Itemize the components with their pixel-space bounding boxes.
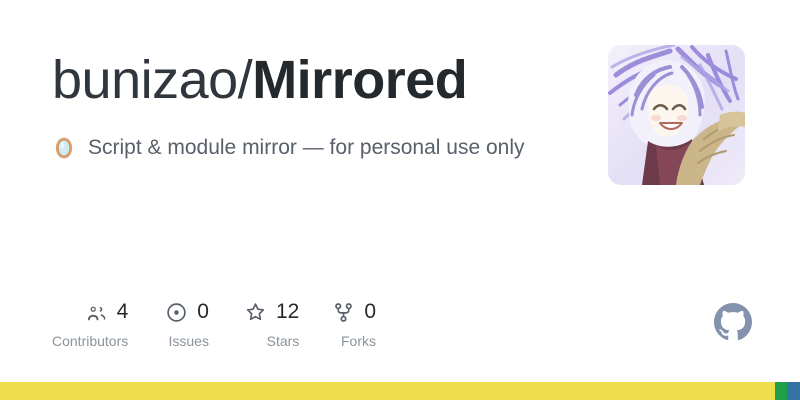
stat-forks[interactable]: 0 Forks [333,298,376,350]
avatar[interactable] [608,45,745,185]
stat-stars[interactable]: 12 Stars [245,298,299,350]
stat-issues[interactable]: 0 Issues [166,298,209,350]
language-segment-green [775,382,787,400]
language-segment-yellow [0,382,775,400]
github-logo-icon [714,303,752,341]
stat-issues-value: 0 [197,300,209,324]
page-title: bunizao/Mirrored [52,48,592,112]
repository-name[interactable]: Mirrored [252,50,467,110]
issue-opened-icon [166,302,187,323]
language-segment-blue [787,382,800,400]
repository-owner[interactable]: bunizao [52,50,238,110]
repo-forked-icon [333,302,354,323]
stat-contributors[interactable]: 4 Contributors [52,298,128,350]
stat-contributors-label: Contributors [52,332,128,350]
stat-stars-value: 12 [276,300,299,324]
repository-description: Script & module mirror — for personal us… [52,134,592,162]
title-separator: / [238,50,253,110]
stat-forks-value: 0 [364,300,376,324]
stat-forks-label: Forks [341,332,376,350]
stat-forks-top: 0 [333,298,376,326]
stat-issues-label: Issues [168,332,208,350]
language-bar [0,382,800,400]
repository-header: bunizao/Mirrored Script & module mirror … [52,48,592,162]
mirror-emoji-icon [52,136,76,160]
people-icon [86,302,107,323]
stat-stars-label: Stars [267,332,300,350]
stat-stars-top: 12 [245,298,299,326]
repository-stats: 4 Contributors 0 Issues [52,298,376,350]
stat-contributors-value: 4 [117,300,129,324]
stat-issues-top: 0 [166,298,209,326]
repository-card: bunizao/Mirrored Script & module mirror … [0,0,800,400]
stat-contributors-top: 4 [86,298,129,326]
star-icon [245,302,266,323]
repository-description-text: Script & module mirror — for personal us… [88,134,525,162]
